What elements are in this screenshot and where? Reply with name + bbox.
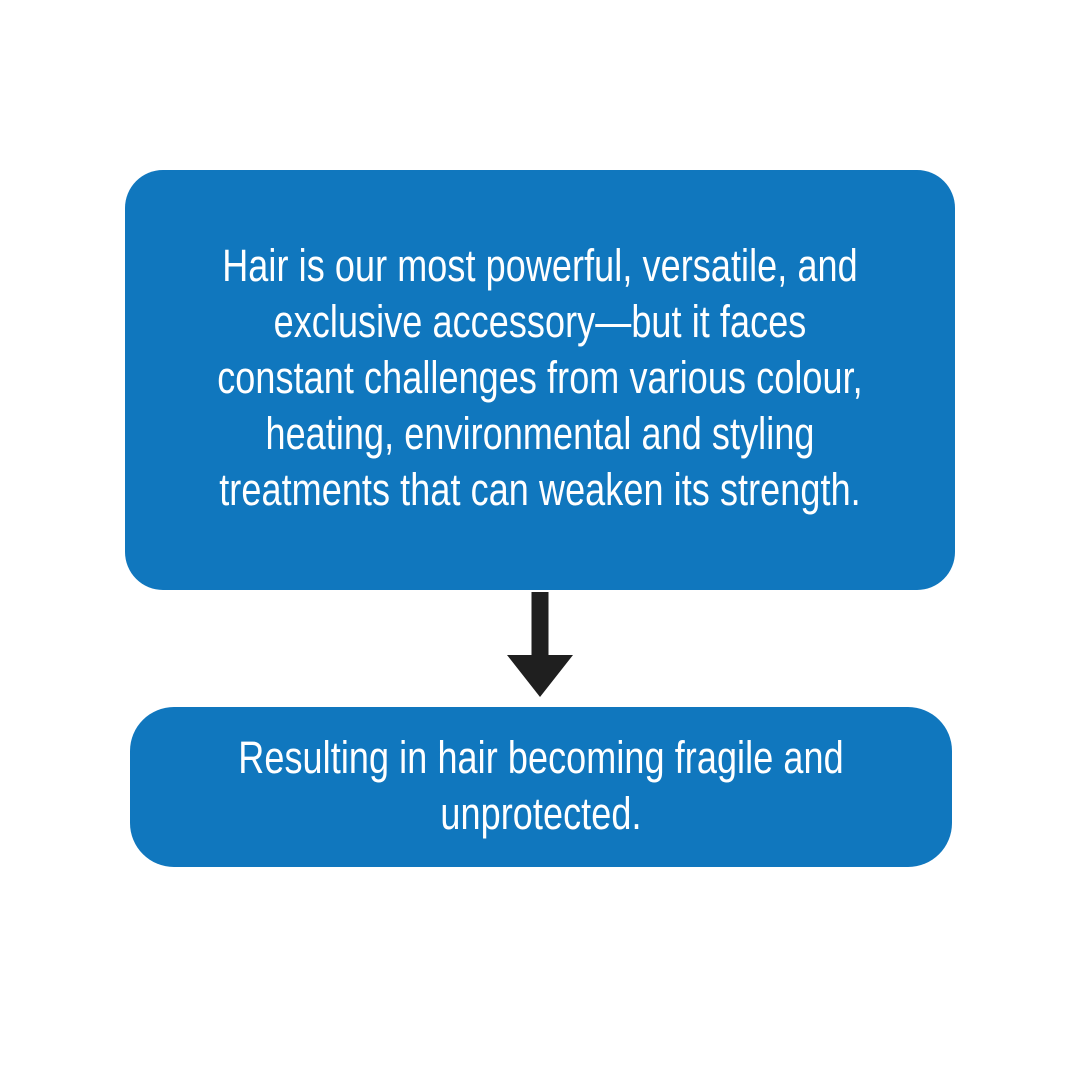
flow-node-problem: Hair is our most powerful, versatile, an… <box>125 170 955 590</box>
flow-node-result: Resulting in hair becoming fragile and u… <box>130 707 952 867</box>
flow-diagram-canvas: Hair is our most powerful, versatile, an… <box>0 0 1080 1080</box>
flow-node-result-text: Resulting in hair becoming fragile and u… <box>212 730 870 842</box>
arrow-down-icon <box>505 592 575 700</box>
flow-node-problem-text: Hair is our most powerful, versatile, an… <box>208 238 872 518</box>
